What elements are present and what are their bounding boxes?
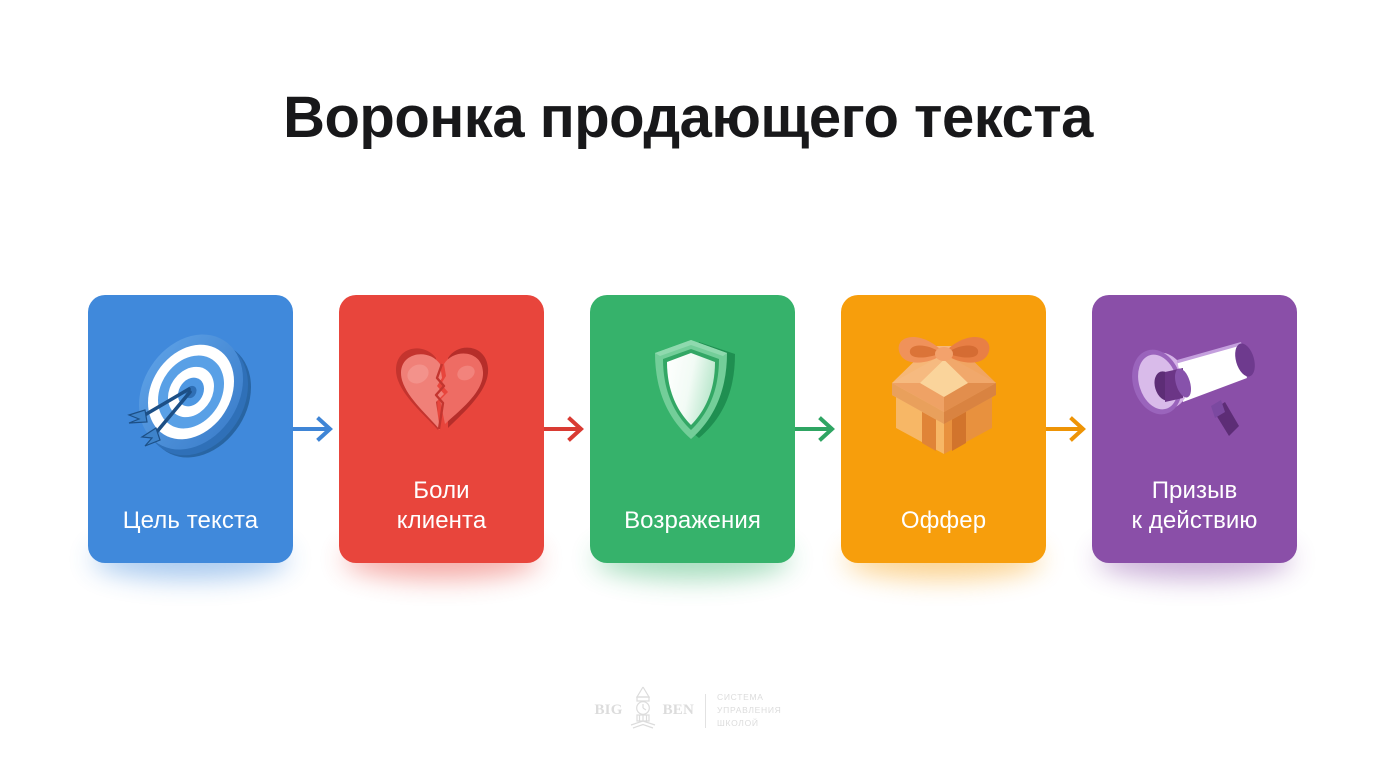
brand-logo: BIG BEN	[594, 685, 694, 736]
funnel-step-card-3[interactable]: Возражения	[590, 295, 795, 563]
funnel-arrow-3	[795, 295, 841, 563]
funnel-step-card-5[interactable]: Призыв к действию	[1092, 295, 1297, 563]
clock-tower-icon	[627, 685, 659, 736]
logo-divider	[705, 694, 706, 728]
broken-heart-icon	[367, 322, 517, 472]
logo-tagline: СИСТЕМА УПРАВЛЕНИЯ ШКОЛОЙ	[717, 691, 782, 731]
funnel-step-card-2[interactable]: Боли клиента	[339, 295, 544, 563]
funnel-arrow-1	[293, 295, 339, 563]
page-title: Воронка продающего текста	[0, 86, 1376, 150]
funnel-arrow-4	[1046, 295, 1092, 563]
funnel-step-label-3: Возражения	[596, 506, 789, 535]
gift-box-icon	[869, 322, 1019, 472]
megaphone-icon	[1120, 322, 1270, 472]
logo-text-ben: BEN	[663, 702, 694, 719]
logo-text-big: BIG	[594, 702, 622, 719]
funnel-arrow-2	[544, 295, 590, 563]
funnel-step-label-2: Боли клиента	[345, 476, 538, 535]
footer-logo: BIG BEN СИСТЕМА	[0, 685, 1376, 736]
logo-tagline-line-2: УПРАВЛЕНИЯ	[717, 704, 782, 717]
logo-tagline-line-3: ШКОЛОЙ	[717, 717, 782, 730]
funnel-step-label-4: Оффер	[847, 506, 1040, 535]
logo-tagline-line-1: СИСТЕМА	[717, 691, 782, 704]
funnel-step-label-1: Цель текста	[94, 506, 287, 535]
funnel-step-card-4[interactable]: Оффер	[841, 295, 1046, 563]
target-icon	[116, 322, 266, 472]
funnel-steps-row: Цель текста	[88, 295, 1288, 563]
shield-icon	[618, 322, 768, 472]
funnel-step-label-5: Призыв к действию	[1098, 476, 1291, 535]
funnel-step-card-1[interactable]: Цель текста	[88, 295, 293, 563]
